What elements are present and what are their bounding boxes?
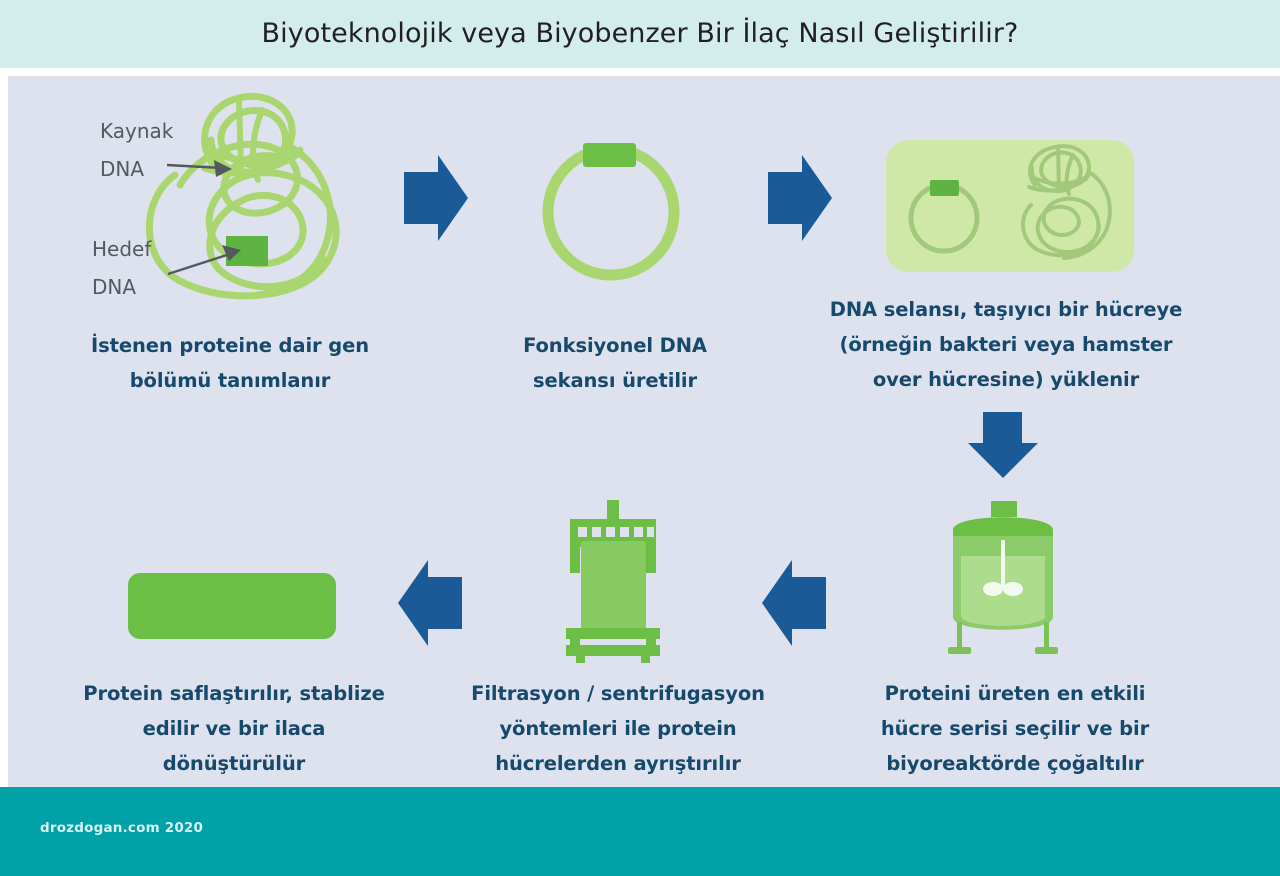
step-4-caption-line-2: hücre serisi seçilir ve bir	[856, 711, 1174, 746]
step-5-caption-line-3: hücrelerden ayrıştırılır	[456, 746, 780, 781]
step-1-caption: İstenen proteine dair gen bölümü tanımla…	[60, 328, 400, 398]
step-3-caption-line-3: over hücresine) yüklenir	[826, 362, 1186, 397]
page-title: Biyoteknolojik veya Biyobenzer Bir İlaç …	[0, 0, 1280, 68]
step-4-caption-line-1: Proteini üreten en etkili	[856, 676, 1174, 711]
step-2-caption-line-2: sekansı üretilir	[470, 363, 760, 398]
step-5-caption-line-1: Filtrasyon / sentrifugasyon	[456, 676, 780, 711]
step-2-caption: Fonksiyonel DNA sekansı üretilir	[470, 328, 760, 398]
footer-credit: drozdogan.com 2020	[40, 820, 203, 836]
step-3-caption: DNA selansı, taşıyıcı bir hücreye (örneğ…	[826, 292, 1186, 397]
step-6-caption-line-1: Protein saflaştırılır, stablize	[72, 676, 396, 711]
hedef-dna-label: Hedef DNA	[92, 230, 202, 306]
step-1-caption-line-1: İstenen proteine dair gen	[60, 328, 400, 363]
kaynak-dna-label: Kaynak DNA	[100, 112, 210, 188]
step-3-caption-line-2: (örneğin bakteri veya hamster	[826, 327, 1186, 362]
infographic-root: Biyoteknolojik veya Biyobenzer Bir İlaç …	[0, 0, 1280, 876]
step-2-caption-line-1: Fonksiyonel DNA	[470, 328, 760, 363]
step-1-caption-line-2: bölümü tanımlanır	[60, 363, 400, 398]
step-3-caption-line-1: DNA selansı, taşıyıcı bir hücreye	[826, 292, 1186, 327]
step-5-caption: Filtrasyon / sentrifugasyon yöntemleri i…	[456, 676, 780, 781]
step-6-caption: Protein saflaştırılır, stablize edilir v…	[72, 676, 396, 781]
step-5-caption-line-2: yöntemleri ile protein	[456, 711, 780, 746]
step-4-caption-line-3: biyoreaktörde çoğaltılır	[856, 746, 1174, 781]
step-4-caption: Proteini üreten en etkili hücre serisi s…	[856, 676, 1174, 781]
step-6-caption-line-3: dönüştürülür	[72, 746, 396, 781]
step-6-caption-line-2: edilir ve bir ilaca	[72, 711, 396, 746]
